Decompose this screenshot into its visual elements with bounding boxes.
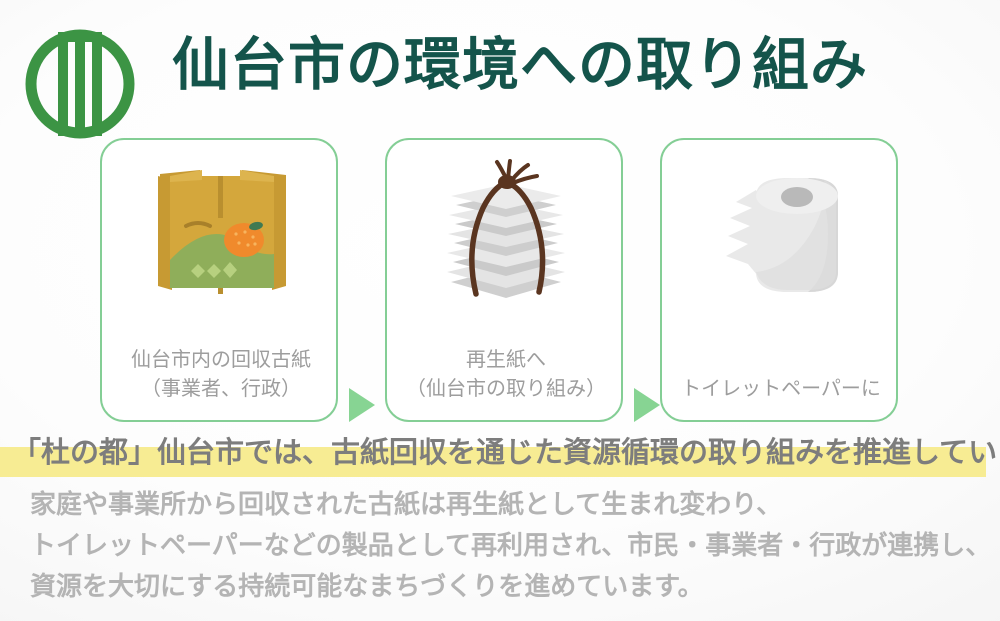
poster-header: 仙台市の環境への取り組み [0, 18, 1000, 130]
cardboard-box-icon [102, 156, 340, 334]
sendai-city-logo-icon [22, 26, 138, 142]
body-line-1: 家庭や事業所から回収された古紙は再生紙として生まれ変わり、 [30, 484, 980, 525]
flow-card-label-group: トイレットペーパーに [662, 375, 900, 404]
flow-arrow-icon [349, 388, 375, 422]
tied-paper-stack-icon [387, 156, 625, 334]
flow-card-label-line1: トイレットペーパーに [662, 375, 900, 404]
process-flow: 仙台市内の回収古紙 （事業者、行政） [0, 138, 1000, 424]
body-paragraph: 家庭や事業所から回収された古紙は再生紙として生まれ変わり、 トイレットペーパーな… [30, 484, 980, 607]
flow-card-toilet-paper[interactable]: トイレットペーパーに [660, 138, 898, 422]
flow-card-label-line2: （事業者、行政） [102, 375, 340, 404]
infographic-poster: 仙台市の環境への取り組み [0, 0, 1000, 621]
toilet-paper-roll-icon [662, 156, 900, 334]
flow-card-label-line2: （仙台市の取り組み） [387, 375, 625, 404]
flow-card-label-group: 仙台市内の回収古紙 （事業者、行政） [102, 346, 340, 404]
highlight-statement-label: 「杜の都」仙台市では、古紙回収を通じた資源循環の取り組みを推進しています [12, 437, 1000, 469]
highlight-statement-text: 「杜の都」仙台市では、古紙回収を通じた資源循環の取り組みを推進しています [12, 431, 1000, 475]
flow-card-label-line1: 再生紙へ [387, 346, 625, 375]
page-title: 仙台市の環境への取り組み [172, 36, 868, 96]
flow-card-recycled-paper[interactable]: 再生紙へ （仙台市の取り組み） [385, 138, 623, 422]
flow-card-label-line1: 仙台市内の回収古紙 [102, 346, 340, 375]
highlight-statement: 「杜の都」仙台市では、古紙回収を通じた資源循環の取り組みを推進しています [0, 431, 1000, 479]
flow-arrow-icon [634, 388, 660, 422]
body-line-2: トイレットペーパーなどの製品として再利用され、市民・事業者・行政が連携し、 [30, 525, 980, 566]
flow-card-label-group: 再生紙へ （仙台市の取り組み） [387, 346, 625, 404]
body-line-3: 資源を大切にする持続可能なまちづくりを進めています。 [30, 566, 980, 607]
flow-card-collected-paper[interactable]: 仙台市内の回収古紙 （事業者、行政） [100, 138, 338, 422]
